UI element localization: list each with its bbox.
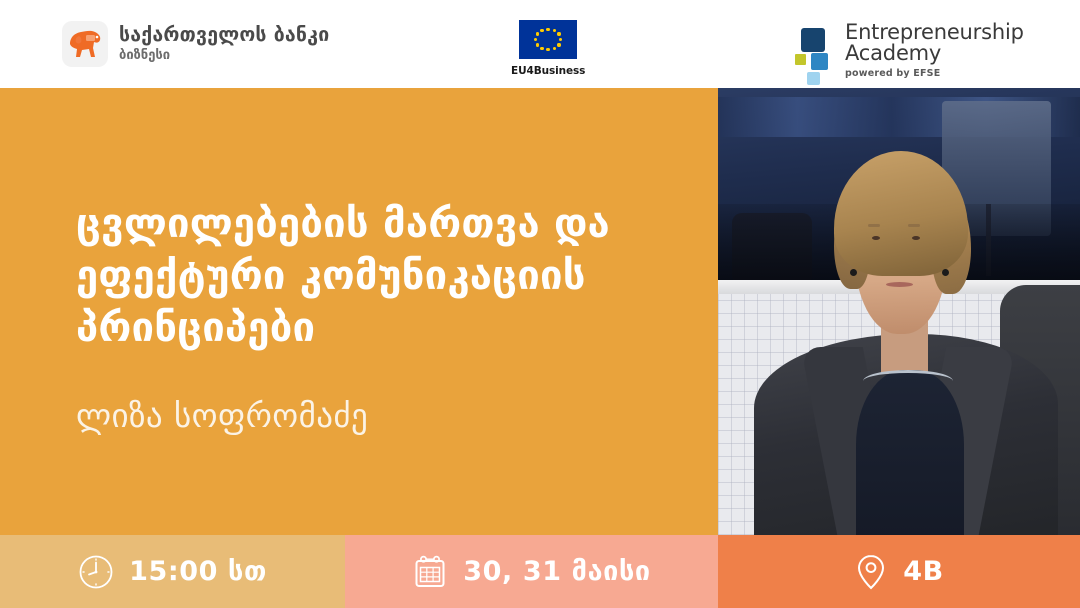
academy-squares-icon [795,28,835,72]
academy-line3: powered by EFSE [845,68,1024,79]
page-title: ცვლილებების მართვა და ეფექტური კომუნიკაც… [76,198,676,354]
bank-name: საქართველოს ბანკი [119,24,329,45]
place-value: 4B [903,558,944,585]
eu4business-logo[interactable]: EU4Business [511,20,585,77]
info-bar: 15:00 სთ 30, 31 მაისი 4B [0,535,1080,608]
eu-flag-icon [519,20,577,59]
date-segment: 30, 31 მაისი [345,535,718,608]
place-segment: 4B [718,535,1080,608]
clock-icon [78,554,114,590]
event-poster: საქართველოს ბანკი ბიზნესი EU4Business [0,0,1080,608]
bank-logo-text: საქართველოს ბანკი ბიზნესი [119,24,329,64]
academy-line1: Entrepreneurship [845,22,1024,43]
academy-line2: Academy [845,43,1024,64]
entrepreneurship-academy-logo[interactable]: Entrepreneurship Academy powered by EFSE [795,22,1024,79]
main-panel: ცვლილებების მართვა და ეფექტური კომუნიკაც… [0,88,718,535]
speaker-name: ლიზა სოფრომაძე [76,396,676,436]
bank-of-georgia-logo[interactable]: საქართველოს ბანკი ბიზნესი [62,21,329,67]
bank-subtitle: ბიზნესი [119,48,329,64]
speaker-photo [718,88,1080,535]
logo-bar: საქართველოს ბანკი ბიზნესი EU4Business [0,0,1080,88]
location-pin-icon [854,553,888,591]
time-segment: 15:00 სთ [0,535,345,608]
academy-logo-text: Entrepreneurship Academy powered by EFSE [845,22,1024,79]
time-value: 15:00 სთ [129,558,267,585]
dog-mark-icon [62,21,108,67]
calendar-icon [412,554,448,590]
eu-label: EU4Business [511,65,585,77]
date-value: 30, 31 მაისი [463,558,650,585]
